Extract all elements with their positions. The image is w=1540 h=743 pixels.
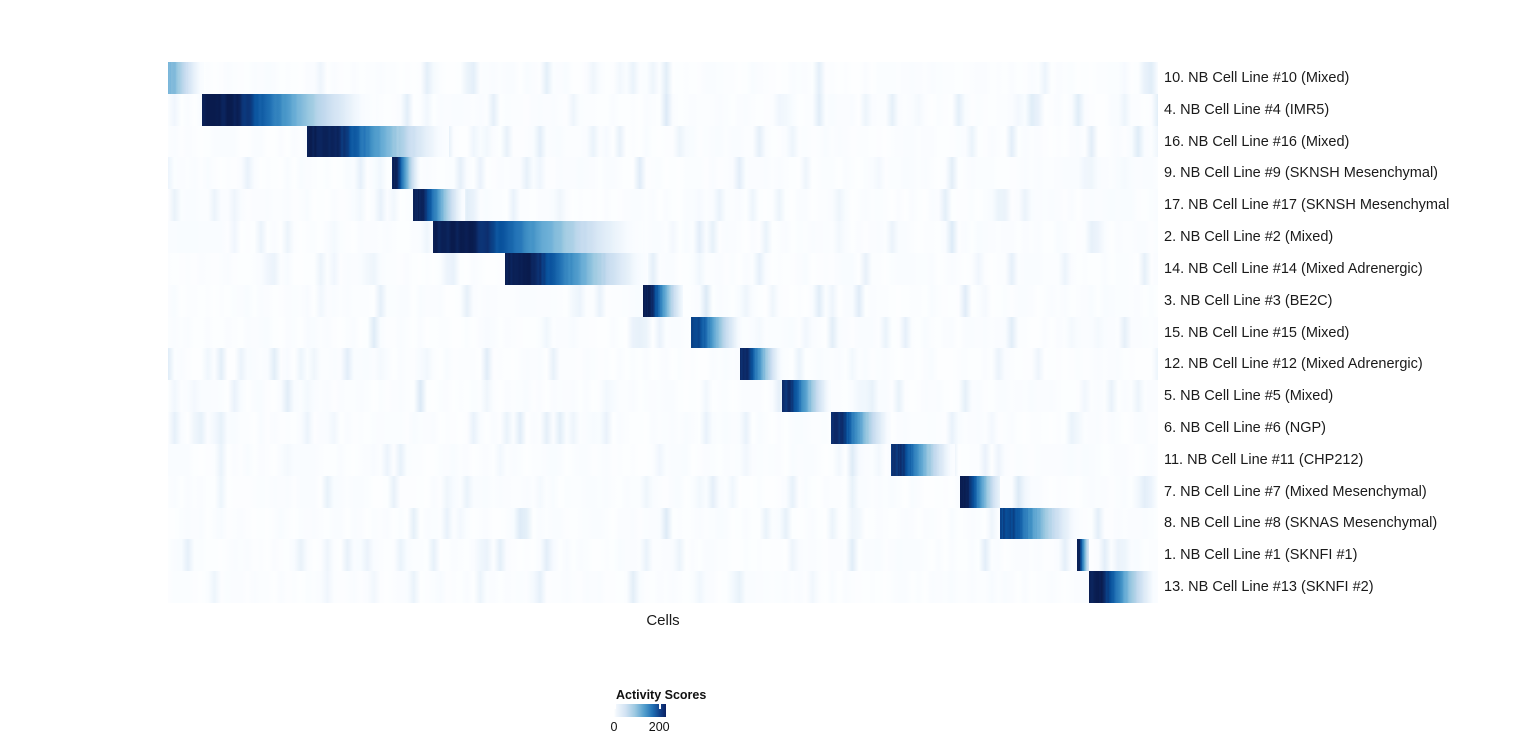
heatmap-figure: GEPs Cells 10. NB Cell Line #10 (Mixed)4…: [0, 0, 1540, 743]
heatmap-row-background: [168, 221, 1158, 254]
heatmap-activity-block: [740, 348, 782, 381]
gep-row-label: 5. NB Cell Line #5 (Mixed): [1164, 389, 1333, 404]
heatmap-row-background: [168, 253, 1158, 286]
colorbar-tick: [659, 704, 661, 709]
heatmap-activity-block: [891, 444, 955, 477]
gep-row-label: 1. NB Cell Line #1 (SKNFI #1): [1164, 548, 1357, 563]
heatmap-row: [168, 62, 1158, 95]
heatmap-row-background: [168, 380, 1158, 413]
heatmap-activity-block: [960, 476, 1000, 509]
heatmap-activity-block: [782, 380, 832, 413]
gep-row-label: 7. NB Cell Line #7 (Mixed Mesenchymal): [1164, 485, 1427, 500]
heatmap-row: [168, 126, 1158, 159]
heatmap-row: [168, 317, 1158, 350]
heatmap-row-background: [168, 539, 1158, 572]
gep-row-label: 17. NB Cell Line #17 (SKNSH Mesenchymal: [1164, 198, 1449, 213]
heatmap-activity-block: [831, 412, 890, 445]
heatmap-activity-block: [505, 253, 649, 286]
x-axis-label: Cells: [168, 612, 1158, 629]
heatmap-row: [168, 444, 1158, 477]
heatmap-activity-block: [643, 285, 683, 318]
gep-row-label: 15. NB Cell Line #15 (Mixed): [1164, 326, 1349, 341]
heatmap-activity-block: [1000, 508, 1079, 541]
gep-row-label: 11. NB Cell Line #11 (CHP212): [1164, 453, 1363, 468]
heatmap-row-background: [168, 62, 1158, 95]
heatmap-row-background: [168, 317, 1158, 350]
colorbar-gradient: [614, 704, 666, 717]
heatmap-row: [168, 285, 1158, 318]
heatmap-row: [168, 253, 1158, 286]
heatmap-activity-block: [168, 62, 204, 95]
heatmap-activity-block: [691, 317, 742, 350]
heatmap-activity-block: [1089, 571, 1158, 603]
heatmap-row: [168, 539, 1158, 572]
heatmap-row-background: [168, 476, 1158, 509]
heatmap-row: [168, 412, 1158, 445]
colorbar-tick-label: 0: [611, 720, 618, 734]
heatmap-row: [168, 380, 1158, 413]
gep-row-label: 16. NB Cell Line #16 (Mixed): [1164, 135, 1349, 150]
gep-row-label: 14. NB Cell Line #14 (Mixed Adrenergic): [1164, 262, 1423, 277]
heatmap-activity-block: [307, 126, 450, 159]
heatmap-row: [168, 476, 1158, 509]
heatmap-row-background: [168, 412, 1158, 445]
heatmap-row: [168, 571, 1158, 603]
heatmap-row-background: [168, 571, 1158, 603]
heatmap-activity-block: [392, 157, 418, 190]
heatmap-activity-block: [202, 94, 376, 127]
heatmap-row: [168, 157, 1158, 190]
gep-row-label: 12. NB Cell Line #12 (Mixed Adrenergic): [1164, 357, 1423, 372]
heatmap-row-background: [168, 157, 1158, 190]
heatmap-row-background: [168, 189, 1158, 222]
heatmap-row: [168, 221, 1158, 254]
heatmap-row-background: [168, 348, 1158, 381]
colorbar-tick-label: 200: [649, 720, 670, 734]
heatmap-row: [168, 348, 1158, 381]
gep-row-label: 4. NB Cell Line #4 (IMR5): [1164, 103, 1329, 118]
gep-row-label: 2. NB Cell Line #2 (Mixed): [1164, 230, 1333, 245]
heatmap-row-background: [168, 444, 1158, 477]
gep-row-label: 8. NB Cell Line #8 (SKNAS Mesenchymal): [1164, 516, 1437, 531]
gep-row-label-list: 10. NB Cell Line #10 (Mixed)4. NB Cell L…: [1164, 62, 1534, 603]
heatmap-activity-block: [1077, 539, 1089, 572]
gep-row-label: 9. NB Cell Line #9 (SKNSH Mesenchymal): [1164, 166, 1438, 181]
gep-row-label: 6. NB Cell Line #6 (NGP): [1164, 421, 1326, 436]
heatmap-row: [168, 189, 1158, 222]
heatmap-plot-area[interactable]: [168, 62, 1158, 603]
heatmap-row: [168, 94, 1158, 127]
gep-row-label: 3. NB Cell Line #3 (BE2C): [1164, 294, 1332, 309]
colorbar-tick: [614, 704, 616, 709]
gep-row-label: 13. NB Cell Line #13 (SKNFI #2): [1164, 580, 1374, 595]
heatmap-activity-block: [413, 189, 465, 222]
heatmap-activity-block: [433, 221, 643, 254]
gep-row-label: 10. NB Cell Line #10 (Mixed): [1164, 71, 1349, 86]
colorbar-title: Activity Scores: [616, 688, 706, 702]
heatmap-row: [168, 508, 1158, 541]
